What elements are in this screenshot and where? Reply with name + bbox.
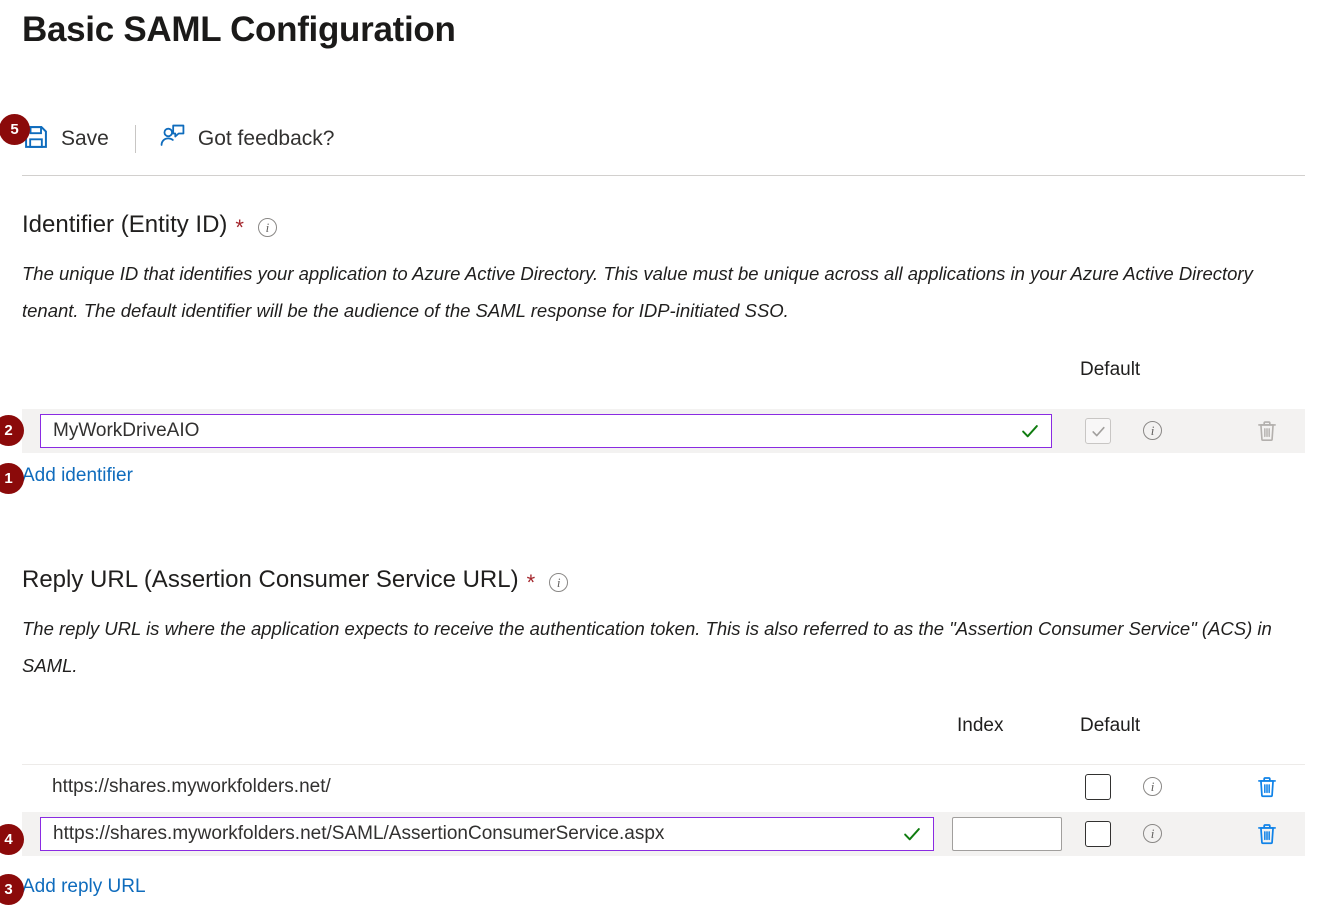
reply-url-default-checkbox[interactable] — [1085, 774, 1111, 800]
info-icon[interactable]: i — [549, 573, 568, 592]
delete-icon — [1254, 418, 1280, 444]
reply-url-row: https://shares.myworkfolders.net/ i — [22, 764, 1305, 808]
toolbar-bottom-divider — [22, 175, 1305, 176]
identifier-section-heading: Identifier (Entity ID) * i — [22, 211, 277, 239]
add-identifier-link[interactable]: Add identifier — [22, 465, 133, 487]
identifier-heading-text: Identifier (Entity ID) — [22, 211, 227, 239]
reply-url-default-column-header: Default — [1080, 715, 1140, 737]
checkmark-icon — [1090, 423, 1107, 440]
valid-check-icon — [901, 823, 923, 845]
toolbar-divider — [135, 125, 136, 153]
info-icon[interactable]: i — [258, 218, 277, 237]
delete-icon[interactable] — [1254, 774, 1280, 800]
info-icon[interactable]: i — [1143, 824, 1162, 843]
page-title: Basic SAML Configuration — [22, 10, 456, 50]
delete-icon[interactable] — [1254, 821, 1280, 847]
annotation-badge-4: 4 — [0, 824, 24, 855]
command-bar: Save Got feedback? — [22, 118, 338, 160]
reply-url-index-column-header: Index — [957, 715, 1003, 737]
required-asterisk: * — [527, 572, 536, 594]
identifier-row: MyWorkDriveAIO i — [22, 409, 1305, 453]
reply-url-section-description: The reply URL is where the application e… — [22, 610, 1292, 684]
identifier-section-description: The unique ID that identifies your appli… — [22, 255, 1292, 329]
got-feedback-label: Got feedback? — [198, 127, 335, 151]
identifier-input[interactable]: MyWorkDriveAIO — [40, 414, 1052, 448]
save-button-label: Save — [61, 127, 109, 151]
annotation-badge-3: 3 — [0, 874, 24, 905]
annotation-badge-2: 2 — [0, 415, 24, 446]
identifier-default-checkbox — [1085, 418, 1111, 444]
reply-url-row: https://shares.myworkfolders.net/SAML/As… — [22, 812, 1305, 856]
annotation-badge-5: 5 — [0, 114, 30, 145]
annotation-badge-1: 1 — [0, 463, 24, 494]
reply-url-input[interactable]: https://shares.myworkfolders.net/SAML/As… — [40, 817, 934, 851]
reply-url-input-value: https://shares.myworkfolders.net/SAML/As… — [53, 823, 893, 845]
person-feedback-icon — [158, 122, 187, 156]
save-button[interactable]: Save — [22, 118, 113, 160]
got-feedback-button[interactable]: Got feedback? — [158, 118, 339, 160]
reply-url-heading-text: Reply URL (Assertion Consumer Service UR… — [22, 566, 519, 594]
required-asterisk: * — [235, 217, 244, 239]
identifier-default-column-header: Default — [1080, 359, 1140, 381]
identifier-input-value: MyWorkDriveAIO — [53, 420, 1011, 442]
info-icon[interactable]: i — [1143, 421, 1162, 440]
add-reply-url-link[interactable]: Add reply URL — [22, 876, 146, 898]
reply-url-value: https://shares.myworkfolders.net/ — [52, 765, 331, 809]
reply-url-index-input[interactable] — [952, 817, 1062, 851]
reply-url-section-heading: Reply URL (Assertion Consumer Service UR… — [22, 566, 568, 594]
info-icon[interactable]: i — [1143, 777, 1162, 796]
reply-url-default-checkbox[interactable] — [1085, 821, 1111, 847]
valid-check-icon — [1019, 420, 1041, 442]
